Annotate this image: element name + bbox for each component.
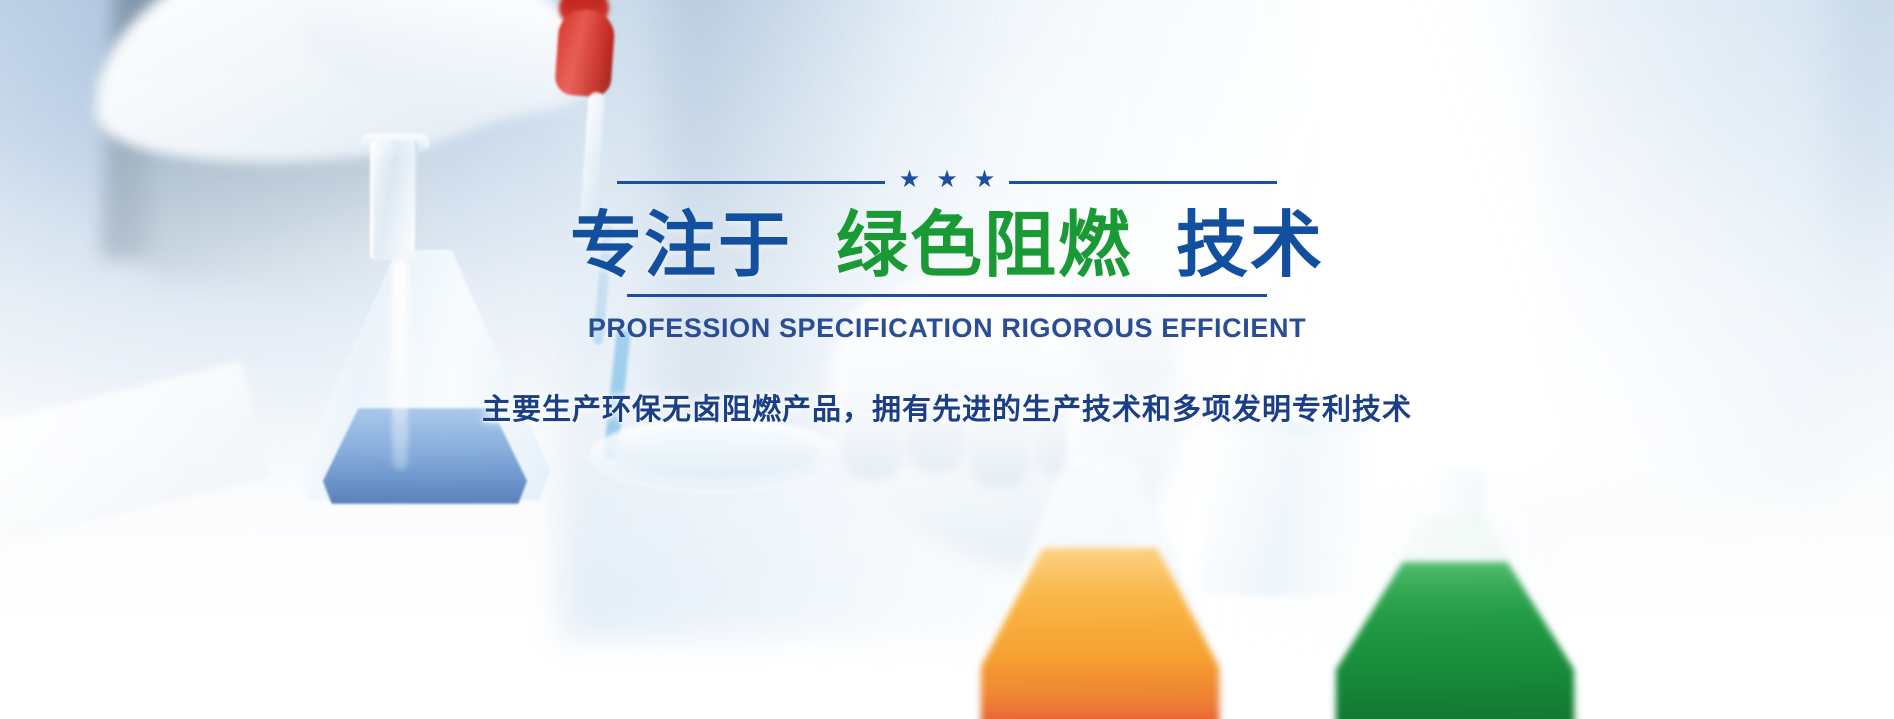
tagline-chinese: 主要生产环保无卤阻燃产品，拥有先进的生产技术和多项发明专利技术 bbox=[482, 386, 1412, 428]
star-icon-3: ★ bbox=[974, 168, 996, 192]
headline-part-2: 绿色阻燃 bbox=[836, 206, 1132, 286]
decorative-stars: ★ ★ ★ bbox=[899, 170, 996, 194]
petri-dish-inner bbox=[612, 428, 818, 478]
headline-part-3: 技术 bbox=[1176, 206, 1324, 286]
decorative-rule-row: ★ ★ ★ bbox=[617, 170, 1277, 194]
star-icon-1: ★ bbox=[899, 168, 921, 192]
orange-liquid-flask bbox=[975, 398, 1225, 719]
banner-content: ★ ★ ★ 专注于 绿色阻燃 技术 PROFESSION SPECIFICATI… bbox=[0, 0, 1894, 428]
subtitle-english: PROFESSION SPECIFICATION RIGOROUS EFFICI… bbox=[588, 313, 1306, 344]
decorative-rule-left bbox=[617, 181, 885, 184]
star-icon-2: ★ bbox=[936, 168, 958, 192]
headline-underline bbox=[627, 294, 1267, 297]
headline: 专注于 绿色阻燃 技术 bbox=[570, 208, 1324, 286]
green-flask-liquid bbox=[1336, 562, 1574, 719]
green-liquid-flask bbox=[1330, 470, 1580, 719]
headline-part-1: 专注于 bbox=[570, 206, 792, 286]
decorative-rule-right bbox=[1009, 181, 1277, 184]
hero-banner: ★ ★ ★ 专注于 绿色阻燃 技术 PROFESSION SPECIFICATI… bbox=[0, 0, 1894, 719]
orange-flask-liquid bbox=[981, 548, 1219, 719]
